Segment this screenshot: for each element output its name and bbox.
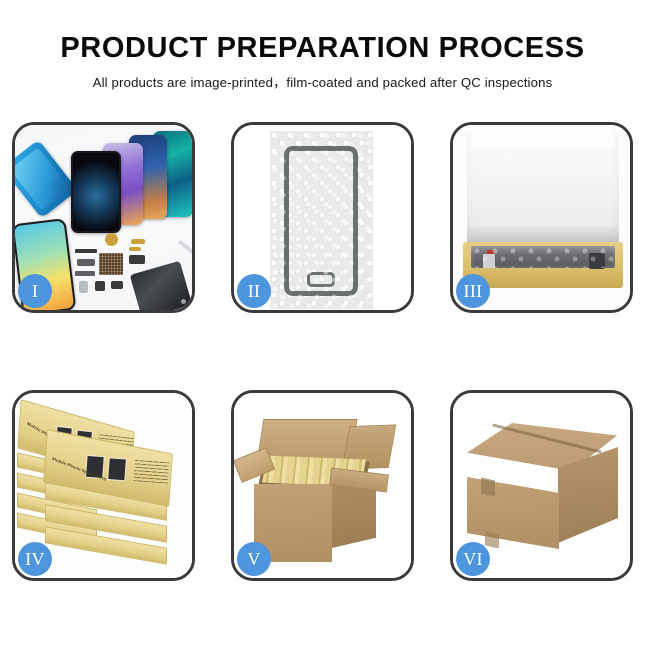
page-title: PRODUCT PREPARATION PROCESS — [0, 0, 645, 63]
wrapped-phone-screen — [284, 146, 358, 296]
part-button — [111, 281, 123, 289]
foam-liner — [467, 133, 619, 245]
process-step-panel-2[interactable]: II — [231, 122, 414, 313]
part-tweezers — [178, 240, 192, 254]
process-step-row-bottom: Mobile Phone Spare Parts Mobile Phone Sp… — [12, 390, 633, 581]
step-badge-5: V — [237, 542, 271, 576]
process-step-panel-3[interactable]: III — [450, 122, 633, 313]
product-red-mark — [487, 250, 494, 254]
process-step-panel-4[interactable]: Mobile Phone Spare Parts Mobile Phone Sp… — [12, 390, 195, 581]
part-screw-b — [189, 305, 192, 310]
part-gold-flex — [131, 239, 145, 244]
part-gold-tab — [129, 247, 141, 251]
part-chip-grid — [99, 253, 123, 275]
carton-side-right — [332, 484, 376, 548]
page-header: PRODUCT PREPARATION PROCESS All products… — [0, 0, 645, 91]
part-speaker-round — [105, 233, 118, 246]
part-connector — [77, 259, 95, 266]
part-screw-a — [181, 299, 186, 304]
step-badge-1: I — [18, 274, 52, 308]
step-badge-2: II — [237, 274, 271, 308]
page-subtitle: All products are image-printed，film-coat… — [0, 63, 645, 91]
step-badge-4: IV — [18, 542, 52, 576]
part-camera — [95, 281, 105, 291]
lid-text-block-b — [133, 459, 169, 483]
part-module — [129, 255, 145, 264]
spare-parts-group — [73, 233, 192, 310]
bubble-wrap-sheet — [270, 131, 373, 309]
carton-tape-upper — [481, 478, 495, 497]
product-label-left — [483, 254, 495, 268]
process-step-grid: I II — [12, 122, 633, 581]
part-flex-strip — [75, 249, 97, 253]
step-badge-3: III — [456, 274, 490, 308]
part-cable — [75, 271, 95, 276]
product-connector-right — [589, 253, 605, 269]
process-step-panel-5[interactable]: V — [231, 390, 414, 581]
step-badge-6: VI — [456, 542, 490, 576]
packed-product — [471, 246, 615, 268]
carton-tape-lower — [485, 532, 499, 549]
lid-thumbnail-b2 — [107, 457, 127, 481]
process-step-panel-6[interactable]: VI — [450, 390, 633, 581]
process-step-panel-1[interactable]: I — [12, 122, 195, 313]
part-sim-tray — [79, 281, 88, 293]
process-step-row-top: I II — [12, 122, 633, 313]
phone-screen-dark — [71, 151, 121, 233]
